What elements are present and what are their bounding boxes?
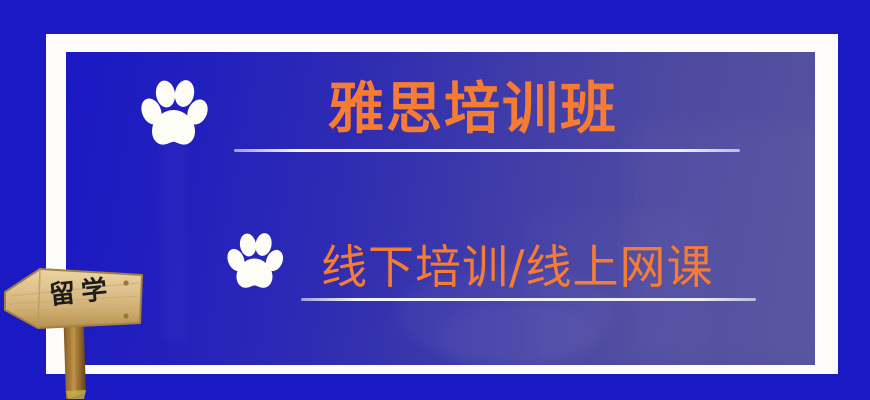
page-subtitle: 线下培训/线上网课 <box>321 241 714 293</box>
background-watermark-shape <box>161 122 187 342</box>
page-title: 雅思培训班 <box>328 80 618 140</box>
wooden-signpost-icon <box>0 252 150 400</box>
ielts-training-banner: 雅思培训班 线下培训/线上网课 <box>0 0 870 400</box>
paw-print-icon <box>224 231 284 293</box>
title-divider <box>234 149 740 152</box>
paw-print-icon <box>137 77 209 151</box>
subtitle-divider <box>301 298 756 301</box>
